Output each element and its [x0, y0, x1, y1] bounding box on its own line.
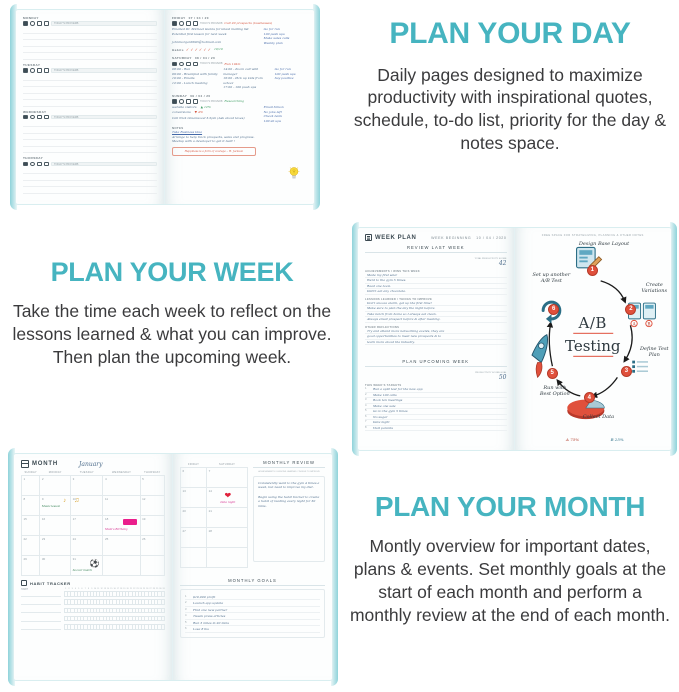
clock-icon — [30, 21, 35, 25]
task-line: Call Nick Greenwood 3-5pm (Ask about tax… — [172, 116, 259, 120]
habit-tracker-title: HABIT TRACKER — [30, 581, 71, 586]
calendar-week-row: 6 7 — [181, 468, 248, 488]
mail-icon — [172, 62, 177, 66]
svg-text:B: B — [647, 321, 650, 326]
daily-planner-image: MONDAY TODAY'S PROVERB TUESDAY — [10, 4, 320, 210]
calendar-icon — [21, 460, 29, 468]
mail-icon — [23, 162, 28, 166]
daily-planner-spread: MONDAY TODAY'S PROVERB TUESDAY — [15, 9, 315, 205]
soccer-ball-icon: ⚽ — [90, 559, 100, 568]
date-value: 07 / 04 / 20 — [189, 16, 209, 20]
calendar-cell: 26 — [140, 536, 164, 556]
monthly-goals-list: 1$10,000 profit 2Launch app update 3Find… — [180, 589, 325, 638]
quote-field: TODAY'S PROVERB — [51, 115, 157, 120]
calendar-week-row — [181, 548, 248, 568]
moon-icon — [37, 21, 42, 25]
metric-value: ▼ 4% — [195, 110, 203, 114]
calendar-cell — [181, 548, 207, 568]
entry-line: Didn't eat any chocolate. — [365, 289, 507, 294]
review-paragraph: Begin using the habit tracker to create … — [258, 495, 320, 508]
productivity-score: TOTAL PRODUCTIVITY SCORE 42 — [365, 257, 507, 267]
ab-testing-diagram: A B — [519, 240, 668, 446]
note-email: johnmorgan6603@hotmail.com — [172, 40, 259, 44]
calendar-cell: 29 — [22, 556, 40, 576]
month-planner-left-page: MONTH January SUNDAY MONDAY TUESDAY WEDN… — [14, 454, 173, 680]
checkbox-icon — [193, 62, 198, 66]
priority-value: Run 10km — [224, 62, 240, 66]
diagram-title-line2: Testing — [565, 337, 621, 355]
daily-entry-saturday: SATURDAY 08 / 04 / 20 TODAY'S PROVERB Ru… — [172, 56, 307, 90]
calendar-cell: 13 — [181, 488, 207, 508]
plan-your-day-body: Daily pages designed to maximize product… — [341, 64, 679, 155]
moon-icon — [186, 21, 191, 25]
month-header: MONTH January — [21, 460, 165, 468]
calendar-cell: 7 — [207, 468, 248, 488]
moon-icon — [186, 62, 191, 66]
calendar-cell: 4 — [103, 476, 140, 496]
calendar-cell: 28 — [207, 528, 248, 548]
event-label: Music lesson — [42, 504, 70, 508]
entry-line: Always email prospect before & after mee… — [365, 317, 507, 322]
calendar-week-row: 27 28 — [181, 528, 248, 548]
calendar-week-row: 13 14 ❤ Date night — [181, 488, 248, 508]
day-block: WEDNESDAY TODAY'S PROVERB — [23, 110, 157, 154]
sticker-icon — [123, 519, 137, 525]
plan-upcoming-week-band: PLAN UPCOMING WEEK — [365, 359, 507, 367]
plan-your-week-headline: PLAN YOUR WEEK — [2, 258, 342, 286]
checkbox-icon — [44, 115, 49, 119]
calendar-cell: 6 — [181, 468, 207, 488]
calendar-cell: 12 — [140, 496, 164, 516]
calendar-cell: 2 — [40, 476, 71, 496]
marketing-feature-page: MONDAY TODAY'S PROVERB TUESDAY — [0, 0, 679, 692]
event-label: Soccer match — [73, 568, 103, 572]
clock-icon — [30, 115, 35, 119]
week-date-label: WEEK BEGINNING 10 / 04 / 2020 — [431, 236, 506, 240]
month-planner-image: MONTH January SUNDAY MONDAY TUESDAY WEDN… — [8, 448, 338, 686]
calendar-week-row: 22 23 24 25 26 — [22, 536, 165, 556]
calendar-cell — [207, 548, 248, 568]
habit-tracker-grid: HABIT 1234567891011121314151617181920212… — [21, 588, 165, 630]
mail-icon — [23, 21, 28, 25]
day-label: MONDAY — [23, 16, 157, 20]
target-row: 8Visit parents — [365, 426, 507, 431]
calendar-week-row: 15 16 17 18 Mum's Birthday 19 — [22, 516, 165, 536]
calendar-cell: 23 — [40, 536, 71, 556]
day-label: WEDNESDAY — [23, 110, 157, 114]
pie-b-label: B 25% — [611, 438, 624, 443]
calendar-week-row: 20 21 — [181, 508, 248, 528]
free-space-header: FREE SPACE FOR STRATEGIZING, PLANNING & … — [522, 234, 665, 237]
week-planner-image: WEEK PLAN WEEK BEGINNING 10 / 04 / 2020 … — [352, 222, 677, 456]
note-line: Meetup with a developer to get it built … — [172, 139, 307, 143]
habits-label: Habits — [172, 48, 184, 52]
clock-icon — [30, 68, 35, 72]
priority-value: Call 20 prospects (businesses) — [224, 21, 272, 25]
checkbox-icon — [193, 99, 198, 103]
moon-icon — [37, 115, 42, 119]
review-last-week-band: REVIEW LAST WEEK — [365, 245, 507, 253]
review-paragraph: Consistently went to the gym 4 times a w… — [258, 481, 320, 490]
daily-planner-right-page: FRIDAY 07 / 04 / 20 TODAY'S PROVERB Call… — [165, 10, 314, 204]
week-planner-right-page: FREE SPACE FOR STRATEGIZING, PLANNING & … — [515, 228, 672, 450]
calendar-cell: 1 — [22, 476, 40, 496]
month-planner-right-page: FRIDAY SATURDAY 6 7 13 14 — [173, 454, 332, 680]
rocket-icon — [531, 335, 547, 378]
day-icon-row: TODAY'S PROVERB — [23, 115, 157, 120]
quote-label: TODAY'S PROVERB — [200, 100, 222, 103]
music-note-icon: ♪ — [63, 498, 66, 504]
schedule-item: 17:00 - 100 push ups — [223, 85, 269, 89]
mail-icon — [172, 99, 177, 103]
ab-node-6: 6 — [548, 304, 559, 315]
month-value: January — [79, 461, 103, 468]
ab-label-3: Define Test Plan — [637, 347, 671, 359]
clock-icon — [179, 21, 184, 25]
plan-your-day-block: PLAN YOUR DAY Daily pages designed to ma… — [341, 18, 679, 155]
day-block: TUESDAY TODAY'S PROVERB — [23, 63, 157, 107]
calendar-cell: 22 — [22, 536, 40, 556]
calendar-week-row: 1 2 3 4 5 — [22, 476, 165, 496]
date-value: 08 / 04 / 20 — [195, 56, 215, 60]
calendar-cell: 25 — [103, 536, 140, 556]
priority-value: Researching — [224, 99, 244, 103]
day-icon-row: TODAY'S PROVERB — [23, 21, 157, 26]
day-block: THURSDAY TODAY'S PROVERB — [23, 156, 157, 193]
quote-box: Happiness is a form of courage. - H. Jac… — [172, 147, 256, 157]
calendar-grid-right: FRIDAY SATURDAY 6 7 13 14 — [180, 463, 248, 568]
event-label: Mum's Birthday — [105, 527, 140, 531]
mail-icon — [172, 21, 177, 25]
ab-label-5: Run with Best Option — [538, 386, 572, 398]
checkbox-icon — [44, 21, 49, 25]
checkbox-icon — [44, 68, 49, 72]
calendar-cell: 11 — [103, 496, 140, 516]
calendar-grid-left: SUNDAY MONDAY TUESDAY WEDNESDAY THURSDAY… — [21, 471, 165, 576]
metric-label: conversions — [172, 110, 191, 114]
calendar-cell: 18 Mum's Birthday — [103, 516, 140, 536]
schedule-item: 12:00 - Lunch meeting — [172, 81, 218, 85]
day-icon-row: TODAY'S PROVERB — [23, 162, 157, 167]
calendar-cell: 14 ❤ Date night — [207, 488, 248, 508]
calendar-week-row: 8 9 Music lesson ♪ 10 ♫ 11 12 — [22, 496, 165, 516]
calendar-cell — [103, 556, 140, 576]
productivity-score-goal: PRODUCTIVITY SCORE GOAL 50 — [365, 371, 507, 381]
quote-field: TODAY'S PROVERB — [51, 68, 157, 73]
plan-your-month-headline: PLAN YOUR MONTH — [341, 492, 679, 521]
habit-row — [21, 591, 165, 597]
moon-icon — [37, 162, 42, 166]
week-plan-header: WEEK PLAN WEEK BEGINNING 10 / 04 / 2020 — [365, 234, 507, 241]
schedule-item: 14:00 - Zoom call with manager — [223, 67, 269, 76]
side-note: Say positive — [275, 76, 307, 80]
ab-node-5: 5 — [547, 368, 558, 379]
monthly-review-panel: Consistently went to the gym 4 times a w… — [253, 476, 325, 562]
calendar-cell: 9 Music lesson ♪ — [40, 496, 71, 516]
plan-your-week-block: PLAN YOUR WEEK Take the time each week t… — [2, 258, 342, 369]
schedule-item: 16:00 - Pick up kids from school — [223, 76, 269, 85]
pie-a-label: A 75% — [566, 438, 579, 443]
checkbox-icon — [193, 21, 198, 25]
habit-row — [21, 624, 165, 630]
calendar-cell: 20 — [181, 508, 207, 528]
calendar-cell: 3 — [71, 476, 103, 496]
notebook-icon — [365, 234, 372, 241]
diagram-title: A/B Testing — [565, 314, 621, 360]
date-value: 09 / 04 / 20 — [190, 94, 210, 98]
moon-icon — [186, 99, 191, 103]
plan-your-week-body: Take the time each week to reflect on th… — [2, 300, 342, 368]
calendar-cell: 19 — [140, 516, 164, 536]
mail-icon — [23, 115, 28, 119]
ab-node-3: 3 — [621, 366, 632, 377]
day-block: MONDAY TODAY'S PROVERB — [23, 16, 157, 60]
day-label: SATURDAY — [172, 56, 192, 60]
week-planner-spread: WEEK PLAN WEEK BEGINNING 10 / 04 / 2020 … — [357, 227, 672, 451]
ab-label-1: Design Base Layout — [572, 242, 636, 248]
monthly-goals-section: MONTHLY GOALS 1$10,000 profit 2Launch ap… — [180, 578, 325, 638]
habit-row — [21, 607, 165, 613]
week-planner-left-page: WEEK PLAN WEEK BEGINNING 10 / 04 / 2020 … — [358, 228, 515, 450]
schedule-col-left: 08:00 - Run 09:00 - Breakfast with famil… — [172, 67, 218, 89]
schedule-col-right: 14:00 - Zoom call with manager 16:00 - P… — [223, 67, 269, 89]
event-label: Date night — [209, 500, 248, 504]
daily-entry-sunday: SUNDAY 09 / 04 / 20 TODAY'S PROVERB Rese… — [172, 94, 307, 156]
plan-your-month-body: Montly overview for important dates, pla… — [341, 535, 679, 626]
test-plan-icon — [632, 361, 648, 373]
ab-label-2: Create Variations — [637, 283, 671, 295]
day-label: FRIDAY — [172, 16, 186, 20]
habit-row — [21, 616, 165, 622]
heart-icon: ❤ — [209, 491, 248, 500]
calendar-cell: 5 — [140, 476, 164, 496]
day-label: THURSDAY — [23, 156, 157, 160]
calendar-cell: 31 ⚽ Soccer match — [71, 556, 103, 576]
habit-tracker-header: HABIT TRACKER — [21, 580, 165, 586]
quote-field: TODAY'S PROVERB — [51, 162, 157, 167]
calendar-cell: 30 — [40, 556, 71, 576]
daily-entry-friday: FRIDAY 07 / 04 / 20 TODAY'S PROVERB Call… — [172, 16, 307, 52]
month-planner-spread: MONTH January SUNDAY MONDAY TUESDAY WEDN… — [13, 453, 333, 681]
clock-icon — [30, 162, 35, 166]
side-notes-col: Go for run 100 push ups Say positive — [275, 67, 307, 89]
quote-label: TODAY'S PROVERB — [200, 62, 222, 65]
ab-label-6: Set up another A/B Test — [530, 273, 572, 285]
month-title: MONTH — [32, 461, 58, 467]
moon-icon — [37, 68, 42, 72]
music-note-icon: ♫ — [74, 497, 79, 504]
monthly-review-sub: ACHIEVEMENTS / LESSONS LEARNED / THINGS … — [253, 471, 325, 473]
ab-node-1: 1 — [587, 265, 598, 276]
monthly-goals-band: MONTHLY GOALS — [180, 578, 325, 586]
calendar-cell: 24 — [71, 536, 103, 556]
calendar-cell: 16 — [40, 516, 71, 536]
lightbulb-icon — [288, 166, 300, 180]
calendar-cell: 15 — [22, 516, 40, 536]
calendar-cell: 17 — [71, 516, 103, 536]
ab-label-4: Collect Data — [576, 415, 620, 421]
habit-row — [21, 599, 165, 605]
calendar-cell: 10 ♫ — [71, 496, 103, 516]
quote-field: TODAY'S PROVERB — [51, 21, 157, 26]
week-plan-title: WEEK PLAN — [375, 235, 416, 241]
habit-icon — [21, 580, 27, 586]
clock-icon — [179, 99, 184, 103]
calendar-cell — [140, 556, 164, 576]
calendar-cell: 27 — [181, 528, 207, 548]
plan-your-day-headline: PLAN YOUR DAY — [341, 18, 679, 50]
calendar-cell: 8 — [22, 496, 40, 516]
checkbox-icon — [44, 162, 49, 166]
clock-icon — [179, 62, 184, 66]
plan-your-month-block: PLAN YOUR MONTH Montly overview for impo… — [341, 492, 679, 626]
diagram-title-line1: A/B — [565, 314, 621, 332]
quote-label: TODAY'S PROVERB — [200, 22, 222, 25]
monthly-review-band: MONTHLY REVIEW — [253, 460, 325, 468]
day-icon-row: TODAY'S PROVERB — [23, 68, 157, 73]
entry-line: learn more about the industry. — [365, 340, 507, 345]
calendar-cell: 21 — [207, 508, 248, 528]
daily-planner-left-page: MONDAY TODAY'S PROVERB TUESDAY — [16, 10, 165, 204]
day-label: SUNDAY — [172, 94, 187, 98]
calendar-week-row: 29 30 31 ⚽ Soccer match — [22, 556, 165, 576]
day-label: TUESDAY — [23, 63, 157, 67]
goal-row: 6Lose 8 lbs — [185, 626, 320, 632]
mail-icon — [23, 68, 28, 72]
targets-list: 1Run a split test for the new app 2Make … — [365, 387, 507, 431]
